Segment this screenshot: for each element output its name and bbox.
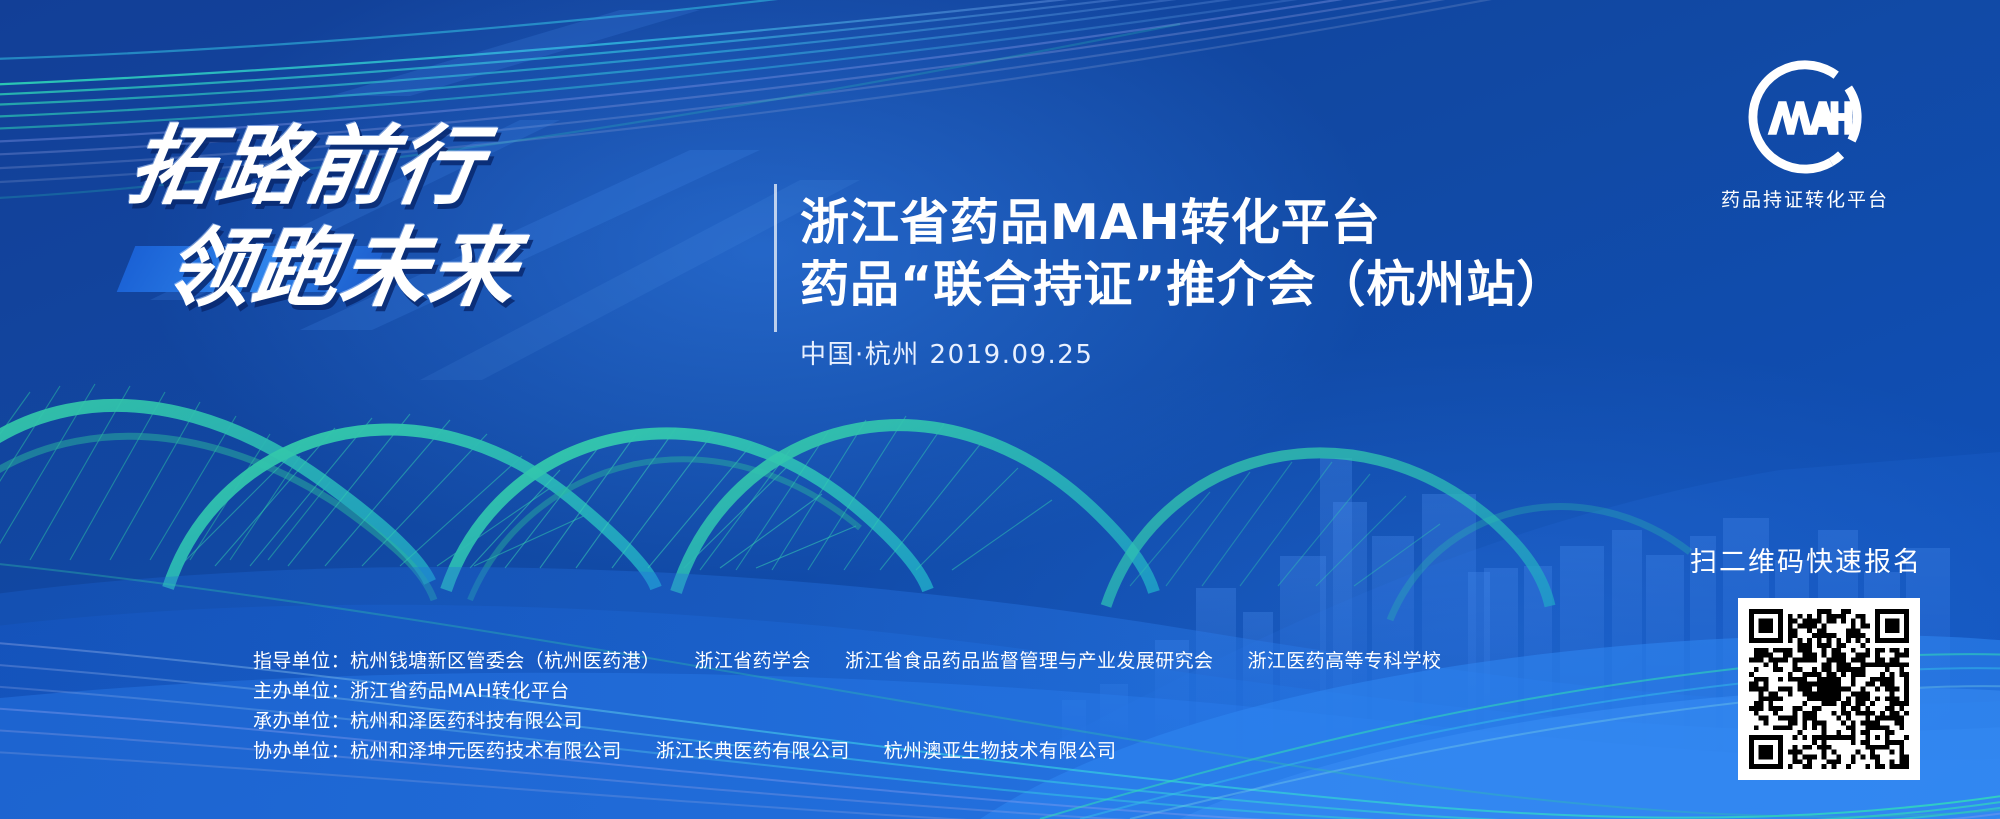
organizer-name: 杭州澳亚生物技术有限公司 bbox=[884, 740, 1117, 762]
organizer-items: 浙江省药品MAH转化平台 bbox=[350, 680, 569, 702]
qr-registration-block: 扫二维码快速报名 bbox=[1690, 540, 1922, 780]
organizer-name: 浙江省药品MAH转化平台 bbox=[350, 680, 569, 702]
qr-code-card[interactable] bbox=[1738, 598, 1920, 780]
event-location-date: 中国·杭州 2019.09.25 bbox=[800, 338, 1566, 372]
organizer-line: 承办单位：杭州和泽医药科技有限公司 bbox=[253, 706, 1441, 736]
organizer-role-label: 主办单位： bbox=[253, 680, 350, 702]
mah-logo-block: 药品持证转化平台 bbox=[1700, 58, 1910, 212]
slogan-line-2: 领跑未来 bbox=[158, 220, 748, 318]
event-banner: 拓路前行 领跑未来 浙江省药品MAH转化平台 药品“联合持证”推介会（杭州站） … bbox=[0, 0, 2000, 819]
organizer-items: 杭州钱塘新区管委会（杭州医药港）浙江省药学会浙江省食品药品监督管理与产业发展研究… bbox=[350, 650, 1441, 672]
mah-logo-caption: 药品持证转化平台 bbox=[1700, 185, 1910, 212]
organizer-name: 浙江省药学会 bbox=[694, 650, 810, 672]
organizer-role-label: 协办单位： bbox=[253, 740, 350, 762]
organizer-line: 协办单位：杭州和泽坤元医药技术有限公司浙江长典医药有限公司杭州澳亚生物技术有限公… bbox=[253, 736, 1441, 766]
title-block: 浙江省药品MAH转化平台 药品“联合持证”推介会（杭州站） 中国·杭州 2019… bbox=[800, 192, 1566, 372]
slogan-line-1: 拓路前行 bbox=[122, 118, 748, 216]
qr-code-image[interactable] bbox=[1749, 609, 1909, 769]
event-title-line-2: 药品“联合持证”推介会（杭州站） bbox=[800, 254, 1566, 316]
event-title-line-1: 浙江省药品MAH转化平台 bbox=[800, 192, 1566, 254]
organizer-line: 指导单位：杭州钱塘新区管委会（杭州医药港）浙江省药学会浙江省食品药品监督管理与产… bbox=[253, 646, 1441, 676]
slogan-block: 拓路前行 领跑未来 bbox=[130, 118, 740, 338]
organizer-name: 浙江省食品药品监督管理与产业发展研究会 bbox=[845, 650, 1214, 672]
organizer-items: 杭州和泽坤元医药技术有限公司浙江长典医药有限公司杭州澳亚生物技术有限公司 bbox=[350, 740, 1116, 762]
organizer-list: 指导单位：杭州钱塘新区管委会（杭州医药港）浙江省药学会浙江省食品药品监督管理与产… bbox=[253, 646, 1441, 766]
title-divider-rule bbox=[774, 184, 777, 332]
organizer-role-label: 承办单位： bbox=[253, 710, 350, 732]
organizer-line: 主办单位：浙江省药品MAH转化平台 bbox=[253, 676, 1441, 706]
organizer-name: 浙江长典医药有限公司 bbox=[656, 740, 850, 762]
mah-logo-icon bbox=[1746, 58, 1864, 176]
organizer-name: 浙江医药高等专科学校 bbox=[1247, 650, 1441, 672]
organizer-name: 杭州钱塘新区管委会（杭州医药港） bbox=[350, 650, 660, 672]
organizer-name: 杭州和泽坤元医药技术有限公司 bbox=[350, 740, 622, 762]
organizer-role-label: 指导单位： bbox=[253, 650, 350, 672]
qr-label: 扫二维码快速报名 bbox=[1690, 540, 1922, 579]
organizer-items: 杭州和泽医药科技有限公司 bbox=[350, 710, 583, 732]
organizer-name: 杭州和泽医药科技有限公司 bbox=[350, 710, 583, 732]
